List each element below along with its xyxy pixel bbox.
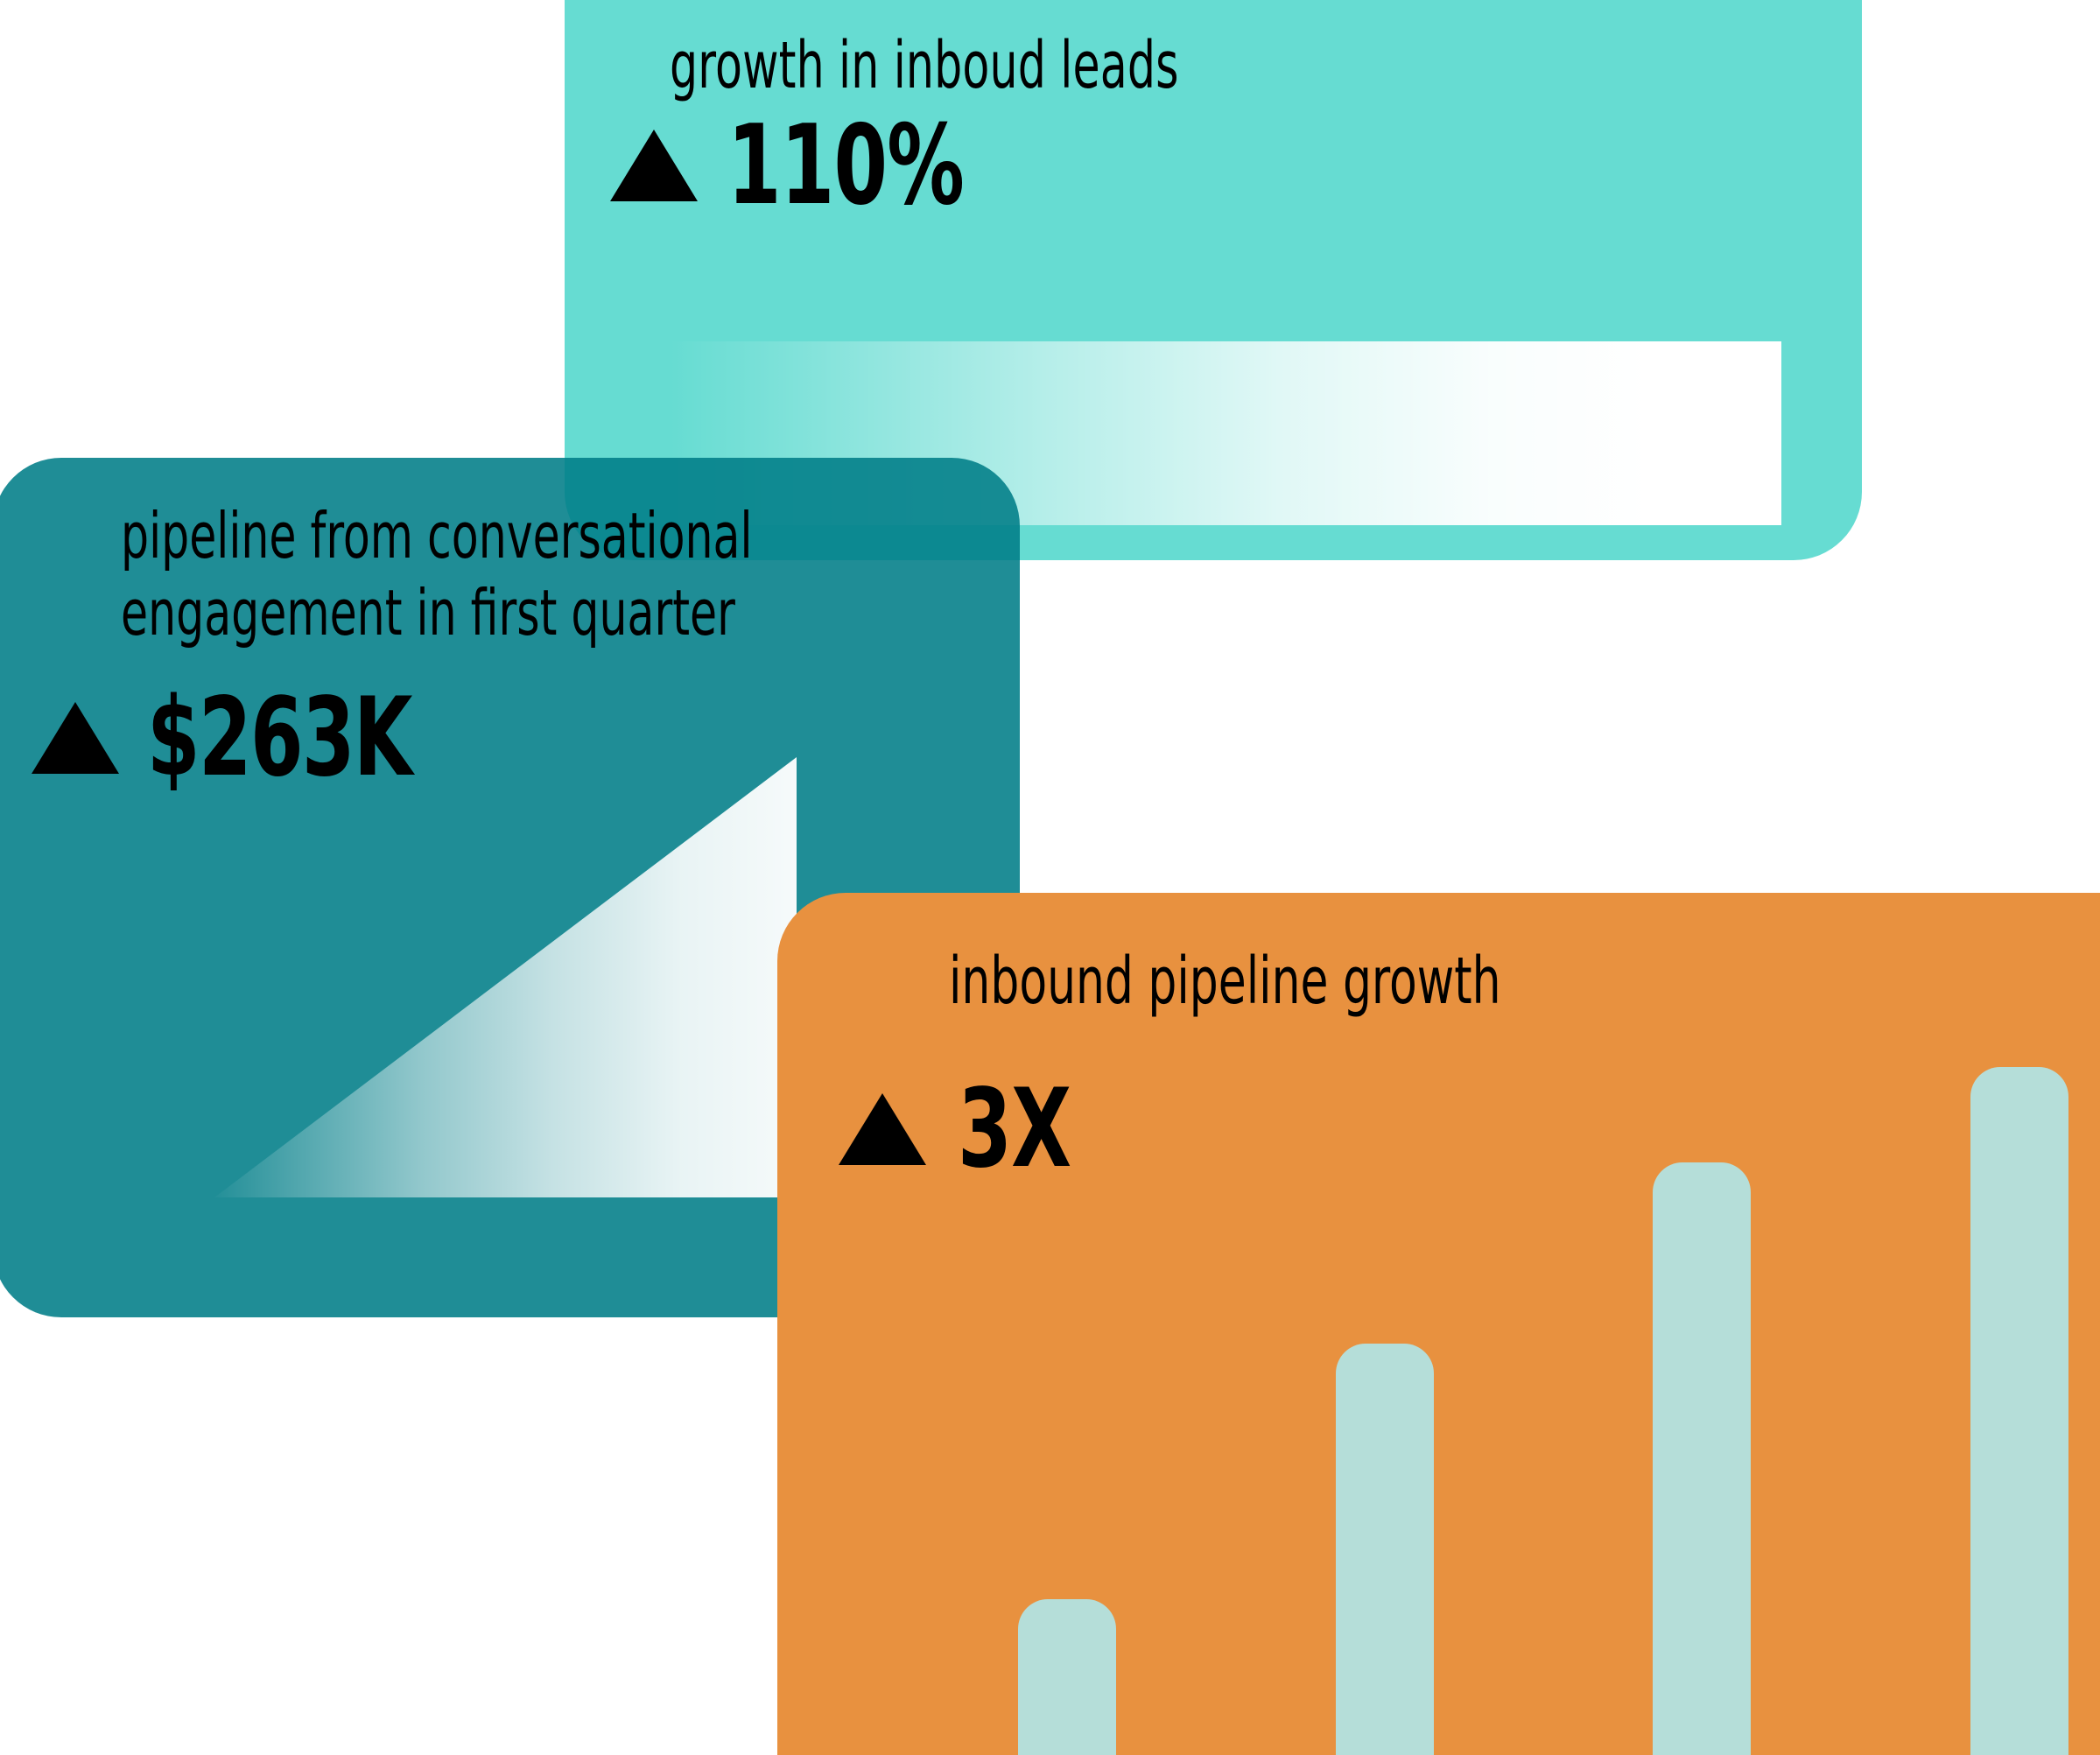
triangle-up-icon [32,702,119,774]
bar-3 [1653,1162,1751,1755]
kpi-label-pipeline-q1: pipeline from conversational engagement … [121,498,753,652]
triangle-up-icon [839,1093,926,1165]
kpi-label-pipeline-growth: inbound pipeline growth [949,944,1500,1019]
kpi-label-line-2: engagement in first quarter [121,575,753,652]
bar-4 [1970,1067,2068,1755]
infographic-canvas: growth in inboud leads 110% pipe [0,0,2100,1755]
kpi-number-pipeline-q1: $263K [147,684,411,792]
bar-1 [1018,1599,1116,1755]
kpi-label-line-1: pipeline from conversational [121,498,753,575]
kpi-card-pipeline-growth[interactable]: inbound pipeline growth 3X [777,893,2100,1755]
bar-chart-graphic [1018,1024,2068,1755]
kpi-number-leads-growth: 110% [727,110,964,221]
bar-2 [1336,1344,1434,1755]
triangle-up-icon [610,130,698,201]
kpi-value-pipeline-q1: $263K [32,684,486,792]
kpi-value-leads-growth: 110% [610,110,1030,221]
kpi-label-leads-growth: growth in inboud leads [670,28,1179,103]
